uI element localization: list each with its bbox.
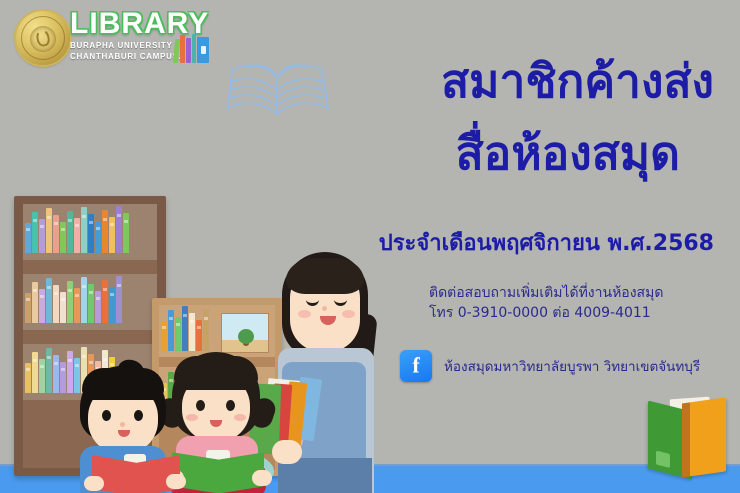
shelf-book bbox=[74, 288, 80, 323]
bookshelf-row bbox=[23, 274, 157, 330]
shelf-book bbox=[67, 281, 73, 323]
shelf-book bbox=[102, 280, 108, 323]
orange-book bbox=[688, 397, 726, 476]
library-logo[interactable]: LIBRARY BURAPHA UNIVERSITY CHANTHABURI C… bbox=[8, 5, 218, 67]
contact-block: ติดต่อสอบถามเพิ่มเติมได้ที่งานห้องสมุด โ… bbox=[429, 283, 663, 324]
university-seal-icon bbox=[16, 11, 70, 65]
shelf-book bbox=[81, 207, 87, 253]
blush-right bbox=[234, 414, 246, 421]
contact-line-2: โทร 0-3910-0000 ต่อ 4009-4011 bbox=[429, 303, 663, 323]
shelf-book bbox=[39, 289, 45, 323]
shelf-book bbox=[25, 223, 31, 253]
seal-emblem-icon bbox=[30, 26, 56, 52]
shelf-book bbox=[182, 306, 188, 351]
shelf-book bbox=[203, 309, 209, 351]
facebook-row[interactable]: f ห้องสมุดมหาวิทยาลัยบูรพา วิทยาเขตจันทบ… bbox=[400, 350, 700, 382]
eye-left bbox=[196, 400, 205, 411]
shelf-book bbox=[81, 277, 87, 323]
shelf-book bbox=[95, 291, 101, 323]
eye-right bbox=[134, 410, 143, 421]
eye-right bbox=[226, 400, 235, 411]
shelf-book bbox=[46, 348, 52, 393]
hand-right bbox=[166, 474, 186, 489]
shelf-book bbox=[46, 208, 52, 253]
standing-books-decoration bbox=[648, 398, 740, 476]
shelf-book bbox=[88, 284, 94, 323]
shelf-book bbox=[53, 355, 59, 393]
shelf-book bbox=[67, 211, 73, 253]
facebook-page-name: ห้องสมุดมหาวิทยาลัยบูรพา วิทยาเขตจันทบุร… bbox=[444, 355, 700, 377]
shelf-book bbox=[88, 214, 94, 253]
shelf-book bbox=[25, 293, 31, 323]
shelf-book bbox=[95, 221, 101, 253]
nose bbox=[322, 306, 327, 311]
bangs bbox=[82, 368, 164, 400]
shelf-book bbox=[32, 282, 38, 323]
facebook-icon[interactable]: f bbox=[400, 350, 432, 382]
stacked-books-icon bbox=[174, 29, 210, 63]
logo-subtitle-line1: BURAPHA UNIVERSITY bbox=[70, 41, 173, 50]
bangs bbox=[286, 258, 364, 294]
shelf-book bbox=[32, 212, 38, 253]
shelf-book bbox=[102, 210, 108, 253]
library-overdue-poster: LIBRARY BURAPHA UNIVERSITY CHANTHABURI C… bbox=[0, 0, 740, 493]
bookshelf-row bbox=[23, 204, 157, 260]
blush-left bbox=[298, 310, 311, 318]
shelf-book bbox=[123, 213, 129, 253]
headline-line-1: สมาชิกค้างส่ง bbox=[441, 58, 714, 104]
shelf-book bbox=[39, 359, 45, 393]
hand-left bbox=[84, 476, 104, 491]
shelf-book bbox=[53, 285, 59, 323]
shelf-book bbox=[109, 287, 115, 323]
shelf-book bbox=[46, 278, 52, 323]
subtitle-month-year: ประจำเดือนพฤศจิกายน พ.ศ.2568 bbox=[379, 225, 714, 260]
hand-right bbox=[252, 470, 272, 486]
shelf-book bbox=[161, 321, 167, 351]
shelf-book bbox=[196, 320, 202, 351]
eye-left bbox=[102, 410, 111, 421]
small-shelf-row bbox=[159, 305, 275, 357]
boy-reading bbox=[66, 366, 188, 493]
shelf-book bbox=[25, 363, 31, 393]
shelf-book bbox=[74, 218, 80, 253]
open-book-doodle-icon bbox=[218, 52, 336, 134]
shelf-book bbox=[189, 313, 195, 351]
shelf-book bbox=[32, 352, 38, 393]
shelf-book bbox=[53, 215, 59, 253]
contact-line-1: ติดต่อสอบถามเพิ่มเติมได้ที่งานห้องสมุด bbox=[429, 283, 663, 303]
facebook-glyph: f bbox=[412, 352, 419, 378]
blush-right bbox=[342, 310, 355, 318]
red-open-book bbox=[92, 454, 178, 493]
shelf-book bbox=[109, 217, 115, 253]
shelf-book bbox=[60, 292, 66, 323]
shelf-book bbox=[116, 206, 122, 253]
nose bbox=[120, 422, 125, 427]
shelf-book bbox=[39, 219, 45, 253]
logo-subtitle-line2: CHANTHABURI CAMPUS. bbox=[70, 52, 182, 61]
librarian-woman bbox=[268, 252, 384, 493]
headline-line-2: สื่อห้องสมุด bbox=[456, 130, 680, 176]
shelf-book bbox=[175, 317, 181, 351]
shelf-book bbox=[60, 222, 66, 253]
picture-book-cover bbox=[221, 313, 269, 353]
shelf-book bbox=[168, 310, 174, 351]
shelf-book bbox=[116, 276, 122, 323]
